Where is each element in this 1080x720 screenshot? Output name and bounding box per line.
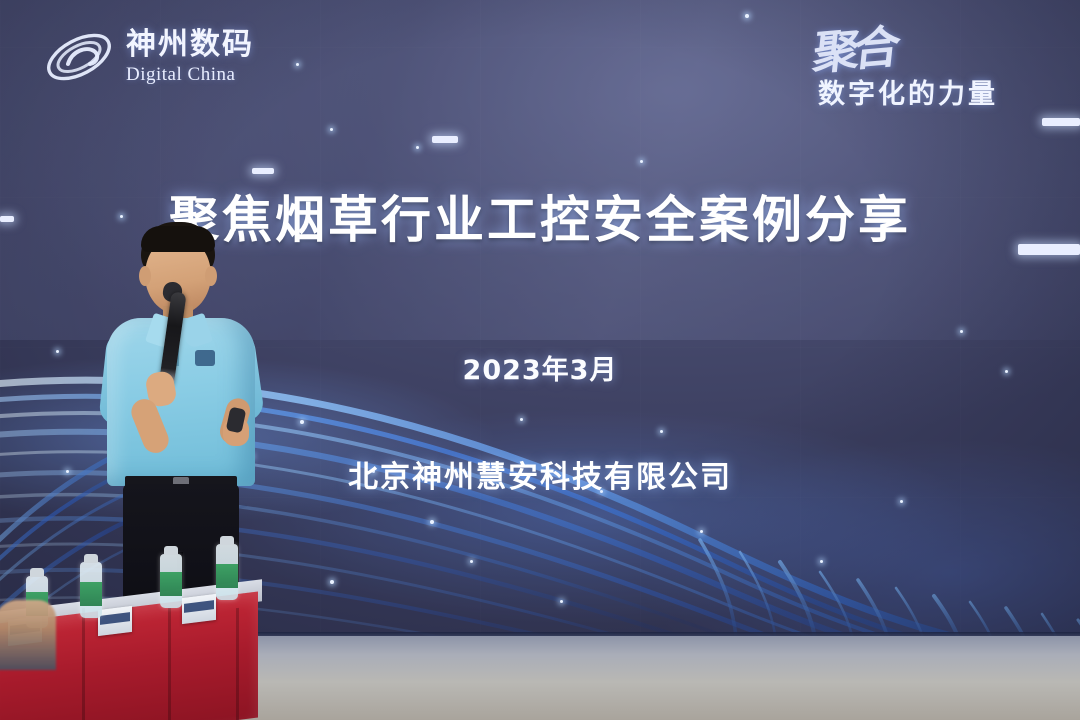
digital-china-logo: 神州数码 Digital China bbox=[42, 18, 282, 96]
event-tagline: 数字化的力量 bbox=[818, 72, 998, 111]
speaker-fringe bbox=[141, 226, 215, 252]
name-card bbox=[182, 594, 216, 624]
table-skirt-fold bbox=[236, 608, 239, 720]
speaker-ear-left bbox=[139, 266, 151, 286]
table-skirt-fold bbox=[168, 608, 171, 720]
speaker-chest-logo-badge bbox=[195, 350, 215, 366]
seated-attendee bbox=[0, 600, 56, 670]
conference-stage-photo: 神州数码 Digital China 聚合 数字化的力量 聚焦烟草行业工控安全案… bbox=[0, 0, 1080, 720]
water-bottle bbox=[80, 562, 102, 618]
event-brand-mark: 聚合 数字化的力量 bbox=[788, 14, 1058, 114]
brand-name-en: Digital China bbox=[126, 65, 254, 84]
brand-name-cn: 神州数码 bbox=[126, 30, 254, 60]
water-bottle bbox=[160, 554, 182, 608]
speaker-ear-right bbox=[205, 266, 217, 286]
name-card bbox=[98, 606, 132, 636]
digital-china-swirl-icon bbox=[42, 26, 116, 88]
water-bottle bbox=[216, 544, 238, 600]
table-skirt-fold bbox=[82, 608, 85, 720]
